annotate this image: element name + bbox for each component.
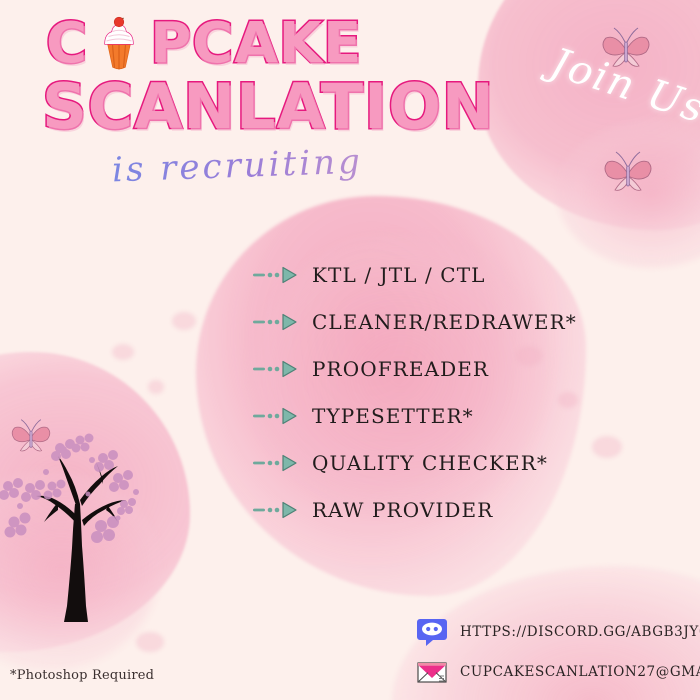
role-item: PROOFREADER [252,346,582,392]
arrow-bullet-icon [252,266,298,284]
role-label: CLEANER/REDRAWER* [312,310,577,334]
contact-email[interactable]: CUPCAKESCANLATION27@GMAIL.COM [416,652,700,692]
title-letter-c: C [46,11,88,76]
role-label: QUALITY CHECKER* [312,451,548,475]
contact-list: HTTPS://DISCORD.GG/ABGB3JY6 CUPCAKESCANL… [416,612,700,692]
role-label: PROOFREADER [312,357,489,381]
butterfly-icon [600,150,656,194]
role-item: RAW PROVIDER [252,487,582,533]
paint-speck [592,436,622,458]
role-item: KTL / JTL / CTL [252,252,582,298]
arrow-bullet-icon [252,407,298,425]
role-label: TYPESETTER* [312,404,474,428]
role-item: TYPESETTER* [252,393,582,439]
join-us-script: Join Us! [545,40,700,139]
paint-speck [112,344,134,360]
paint-speck [136,632,164,652]
title-text-pcake: PCAKE [150,11,362,76]
cupcake-icon [88,20,150,72]
arrow-bullet-icon [252,454,298,472]
poster-title: C PCAKE SCANLATION [42,16,462,138]
discord-icon[interactable] [416,616,448,648]
role-label: KTL / JTL / CTL [312,263,486,287]
title-line-two: SCANLATION [42,76,462,138]
contact-discord[interactable]: HTTPS://DISCORD.GG/ABGB3JY6 [416,612,700,652]
role-item: QUALITY CHECKER* [252,440,582,486]
arrow-bullet-icon [252,501,298,519]
arrow-bullet-icon [252,313,298,331]
watercolor-blob-left [0,352,190,652]
butterfly-icon [8,418,54,454]
tree-blossoms [0,434,139,544]
paint-speck [148,380,164,394]
tree-trunk [36,456,126,622]
watercolor-blob-top-right-secondary [556,118,700,268]
email-icon[interactable] [416,656,448,688]
cherry-blossom-tree [0,400,190,630]
paint-speck [172,312,196,330]
discord-link-text[interactable]: HTTPS://DISCORD.GG/ABGB3JY6 [460,624,700,640]
title-line-one: C PCAKE [46,16,462,72]
recruitment-poster: C PCAKE SCANLATION is recruiting Join Us… [0,0,700,700]
role-label: RAW PROVIDER [312,498,493,522]
role-item: CLEANER/REDRAWER* [252,299,582,345]
roles-list: KTL / JTL / CTL CLEANER/REDRAWER* PROOFR… [252,252,582,534]
footnote-photoshop-required: *Photoshop Required [10,668,154,683]
subtitle-is-recruiting: is recruiting [111,142,363,191]
arrow-bullet-icon [252,360,298,378]
watercolor-blob-left-secondary [0,470,160,670]
email-address-text[interactable]: CUPCAKESCANLATION27@GMAIL.COM [460,664,700,680]
